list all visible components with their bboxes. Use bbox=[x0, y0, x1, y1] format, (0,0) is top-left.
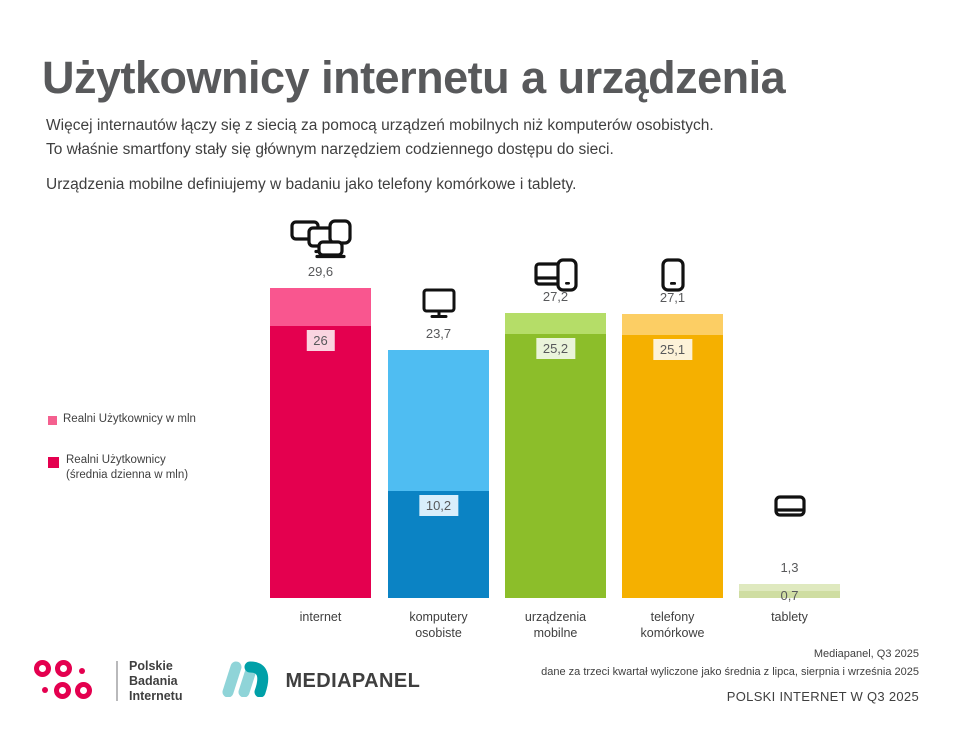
footer-campaign: POLSKI INTERNET W Q3 2025 bbox=[541, 689, 919, 704]
bar-segment-total[interactable] bbox=[622, 314, 723, 335]
desktop-monitor-icon bbox=[388, 272, 489, 318]
footer-source: Mediapanel, Q3 2025 bbox=[541, 648, 919, 660]
bar-category-label: telefonykomórkowe bbox=[622, 609, 723, 641]
pbi-line-1: Polskie bbox=[129, 659, 182, 674]
mediapanel-logo: MEDIAPANEL bbox=[220, 661, 420, 702]
bar-total-label: 29,6 bbox=[270, 264, 371, 279]
smartphone-icon bbox=[622, 246, 723, 292]
logo-divider bbox=[116, 661, 118, 701]
bar-category-label: urządzenia mobilne bbox=[505, 609, 606, 641]
bar-segment-total[interactable] bbox=[505, 313, 606, 334]
bar-segment-total[interactable] bbox=[270, 288, 371, 326]
tablet-icon bbox=[739, 472, 840, 518]
category-line-1: telefony bbox=[651, 610, 695, 624]
mediapanel-logo-text: MEDIAPANEL bbox=[285, 670, 420, 693]
category-line-1: tablety bbox=[771, 610, 808, 624]
pbi-dot-large bbox=[34, 660, 51, 677]
bar-column[interactable]: 27,125,1telefonykomórkowe bbox=[622, 0, 723, 598]
bar-daily-label: 10,2 bbox=[419, 495, 458, 516]
bar-chart: 29,626internet 23,710,2komputeryosobiste… bbox=[0, 0, 957, 660]
bar-segment-daily[interactable] bbox=[622, 335, 723, 598]
footer-method: dane za trzeci kwartał wyliczone jako śr… bbox=[541, 666, 919, 678]
bar-stack[interactable] bbox=[388, 350, 489, 598]
footer-credits: Mediapanel, Q3 2025 dane za trzeci kwart… bbox=[541, 648, 919, 704]
bar-total-label: 23,7 bbox=[388, 326, 489, 341]
bar-column[interactable]: 29,626internet bbox=[270, 0, 371, 598]
pbi-dot-small bbox=[79, 668, 85, 674]
bar-category-label: komputeryosobiste bbox=[388, 609, 489, 641]
bar-segment-total[interactable] bbox=[388, 350, 489, 491]
bar-column[interactable]: 27,225,2urządzenia mobilne bbox=[505, 0, 606, 598]
bar-total-label: 27,2 bbox=[505, 289, 606, 304]
bar-column[interactable]: 23,710,2komputeryosobiste bbox=[388, 0, 489, 598]
bar-daily-label: 0,7 bbox=[773, 585, 805, 606]
pbi-line-3: Internetu bbox=[129, 689, 182, 704]
bar-total-label: 1,3 bbox=[739, 560, 840, 575]
pbi-dot-small bbox=[42, 687, 48, 693]
category-line-2: komórkowe bbox=[641, 626, 705, 640]
pbi-dots-icon bbox=[34, 658, 108, 704]
bar-segment-daily[interactable] bbox=[270, 326, 371, 598]
pbi-line-2: Badania bbox=[129, 674, 182, 689]
bar-daily-label: 25,1 bbox=[653, 339, 692, 360]
pbi-logo-text: Polskie Badania Internetu bbox=[129, 659, 182, 704]
bar-category-label: tablety bbox=[739, 609, 840, 625]
infographic-page: Użytkownicy internetu a urządzenia Więce… bbox=[0, 0, 957, 729]
bar-category-label: internet bbox=[270, 609, 371, 625]
devices-cluster-icon bbox=[270, 216, 371, 262]
bar-column[interactable]: 1,30,7tablety bbox=[739, 0, 840, 598]
category-line-1: komputery bbox=[409, 610, 467, 624]
bar-total-label: 27,1 bbox=[622, 290, 723, 305]
bar-daily-label: 26 bbox=[306, 330, 334, 351]
category-line-1: internet bbox=[300, 610, 342, 624]
mediapanel-mark-icon bbox=[220, 661, 276, 702]
category-line-1: urządzenia mobilne bbox=[525, 610, 586, 640]
bar-daily-label: 25,2 bbox=[536, 338, 575, 359]
pbi-logo: Polskie Badania Internetu bbox=[34, 658, 182, 704]
logo-bar: Polskie Badania Internetu MEDIAPANEL bbox=[34, 658, 420, 704]
bar-segment-daily[interactable] bbox=[505, 334, 606, 598]
category-line-2: osobiste bbox=[415, 626, 462, 640]
pbi-dot-large bbox=[75, 682, 92, 699]
pbi-dot-large bbox=[55, 660, 72, 677]
tablet-phone-icon bbox=[505, 246, 606, 292]
pbi-dot-large bbox=[54, 682, 71, 699]
